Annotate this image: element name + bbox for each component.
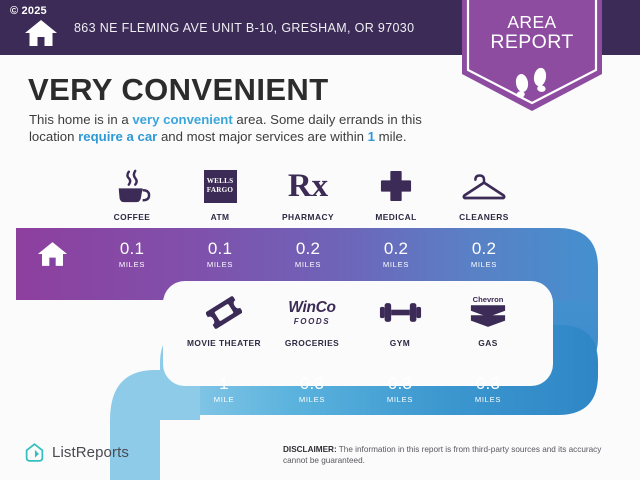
distance-cleaners: 0.2 MILES bbox=[440, 228, 528, 280]
winco-line-1: WinCo bbox=[288, 299, 335, 317]
wells-fargo-line-2: FARGO bbox=[207, 186, 233, 195]
amenity-label: GROCERIES bbox=[285, 338, 339, 348]
area-report-badge: AREA REPORT bbox=[462, 0, 602, 114]
distance-value: 1 bbox=[219, 375, 229, 393]
amenity-label: CLEANERS bbox=[459, 212, 509, 222]
subtitle-part-4: mile. bbox=[375, 129, 407, 144]
listreports-wordmark: ListReports bbox=[52, 444, 129, 461]
amenity-pharmacy[interactable]: Rx PHARMACY bbox=[264, 166, 352, 222]
medical-cross-icon bbox=[380, 166, 412, 206]
amenity-row-1: COFFEE WELLS FARGO ATM Rx PHARMACY bbox=[0, 166, 640, 222]
subtitle-highlight-1: very convenient bbox=[132, 112, 232, 127]
distance-groceries: 0.3 MILES bbox=[268, 363, 356, 415]
distance-gym: 0.3 MILES bbox=[356, 363, 444, 415]
distance-value: 0.1 bbox=[208, 240, 232, 258]
amenity-coffee[interactable]: COFFEE bbox=[88, 166, 176, 222]
distance-unit: MILES bbox=[383, 260, 409, 269]
amenity-medical[interactable]: MEDICAL bbox=[352, 166, 440, 222]
amenity-gas[interactable]: Chevron GAS bbox=[444, 292, 532, 348]
house-icon bbox=[37, 240, 68, 268]
distance-pharmacy: 0.2 MILES bbox=[264, 228, 352, 280]
amenity-gym[interactable]: GYM bbox=[356, 292, 444, 348]
distance-gas: 0.3 MILES bbox=[444, 363, 532, 415]
distance-unit: MILES bbox=[295, 260, 321, 269]
page-title: VERY CONVENIENT bbox=[28, 72, 329, 108]
distance-movie-theater: 1 MILE bbox=[180, 363, 268, 415]
amenity-label: PHARMACY bbox=[282, 212, 334, 222]
distance-value: 0.3 bbox=[476, 375, 500, 393]
distance-value: 0.3 bbox=[388, 375, 412, 393]
amenity-row-2: MOVIE THEATER WinCo FOODS GROCERIES bbox=[0, 292, 640, 348]
disclaimer: DISCLAIMER: The information in this repo… bbox=[283, 445, 613, 466]
amenity-label: ATM bbox=[211, 212, 230, 222]
house-icon bbox=[24, 18, 58, 48]
distance-unit: MILES bbox=[207, 260, 233, 269]
distance-value: 0.2 bbox=[296, 240, 320, 258]
amenity-label: MEDICAL bbox=[375, 212, 416, 222]
distance-medical: 0.2 MILES bbox=[352, 228, 440, 280]
dumbbell-icon bbox=[379, 292, 422, 332]
distance-value: 0.2 bbox=[384, 240, 408, 258]
distance-unit: MILES bbox=[387, 395, 413, 404]
listreports-logo[interactable]: ListReports bbox=[24, 442, 129, 463]
distance-value: 0.2 bbox=[472, 240, 496, 258]
wells-fargo-icon: WELLS FARGO bbox=[204, 166, 237, 206]
amenity-movie-theater[interactable]: MOVIE THEATER bbox=[180, 292, 268, 348]
distance-value: 0.3 bbox=[300, 375, 324, 393]
rx-glyph: Rx bbox=[288, 170, 328, 203]
movie-ticket-icon bbox=[206, 292, 242, 332]
subtitle-part-1: This home is in a bbox=[29, 112, 132, 127]
amenity-groceries[interactable]: WinCo FOODS GROCERIES bbox=[268, 292, 356, 348]
amenity-label: MOVIE THEATER bbox=[187, 338, 261, 348]
disclaimer-label: DISCLAIMER: bbox=[283, 445, 337, 454]
rx-icon: Rx bbox=[288, 166, 328, 206]
badge-label: AREA REPORT bbox=[462, 12, 602, 52]
clothes-hanger-icon bbox=[462, 166, 506, 206]
distance-row-1: 0.1 MILES 0.1 MILES 0.2 MILES 0.2 MILES … bbox=[0, 228, 640, 280]
badge-line-2: REPORT bbox=[462, 32, 602, 52]
badge-line-1: AREA bbox=[462, 12, 602, 32]
coffee-cup-icon bbox=[114, 166, 151, 206]
amenity-label: COFFEE bbox=[114, 212, 151, 222]
area-report-page: © 2025 863 NE FLEMING AVE UNIT B-10, GRE… bbox=[0, 0, 640, 480]
chevron-wordmark: Chevron bbox=[473, 295, 504, 304]
winco-foods-icon: WinCo FOODS bbox=[288, 292, 335, 332]
distance-unit: MILES bbox=[299, 395, 325, 404]
property-address: 863 NE FLEMING AVE UNIT B-10, GRESHAM, O… bbox=[74, 21, 414, 35]
subtitle-highlight-2: require a car bbox=[78, 129, 157, 144]
distance-atm: 0.1 MILES bbox=[176, 228, 264, 280]
amenity-atm[interactable]: WELLS FARGO ATM bbox=[176, 166, 264, 222]
winco-line-2: FOODS bbox=[288, 317, 335, 326]
distance-row-2: 1 MILE 0.3 MILES 0.3 MILES 0.3 MILES bbox=[0, 363, 640, 415]
amenity-label: GYM bbox=[390, 338, 410, 348]
distance-unit: MILES bbox=[475, 395, 501, 404]
page-subtitle: This home is in a very convenient area. … bbox=[29, 112, 459, 145]
subtitle-highlight-3: 1 bbox=[368, 129, 375, 144]
amenity-cleaners[interactable]: CLEANERS bbox=[440, 166, 528, 222]
distance-value: 0.1 bbox=[120, 240, 144, 258]
amenity-label: GAS bbox=[478, 338, 498, 348]
subtitle-part-3: and most major services are within bbox=[157, 129, 367, 144]
distance-unit: MILES bbox=[471, 260, 497, 269]
distance-coffee: 0.1 MILES bbox=[88, 228, 176, 280]
home-marker bbox=[16, 228, 88, 280]
distance-unit: MILE bbox=[214, 395, 235, 404]
copyright-text: © 2025 bbox=[10, 5, 47, 17]
chevron-icon: Chevron bbox=[470, 292, 506, 332]
distance-unit: MILES bbox=[119, 260, 145, 269]
listreports-house-icon bbox=[24, 442, 45, 463]
wells-fargo-line-1: WELLS bbox=[207, 177, 234, 186]
